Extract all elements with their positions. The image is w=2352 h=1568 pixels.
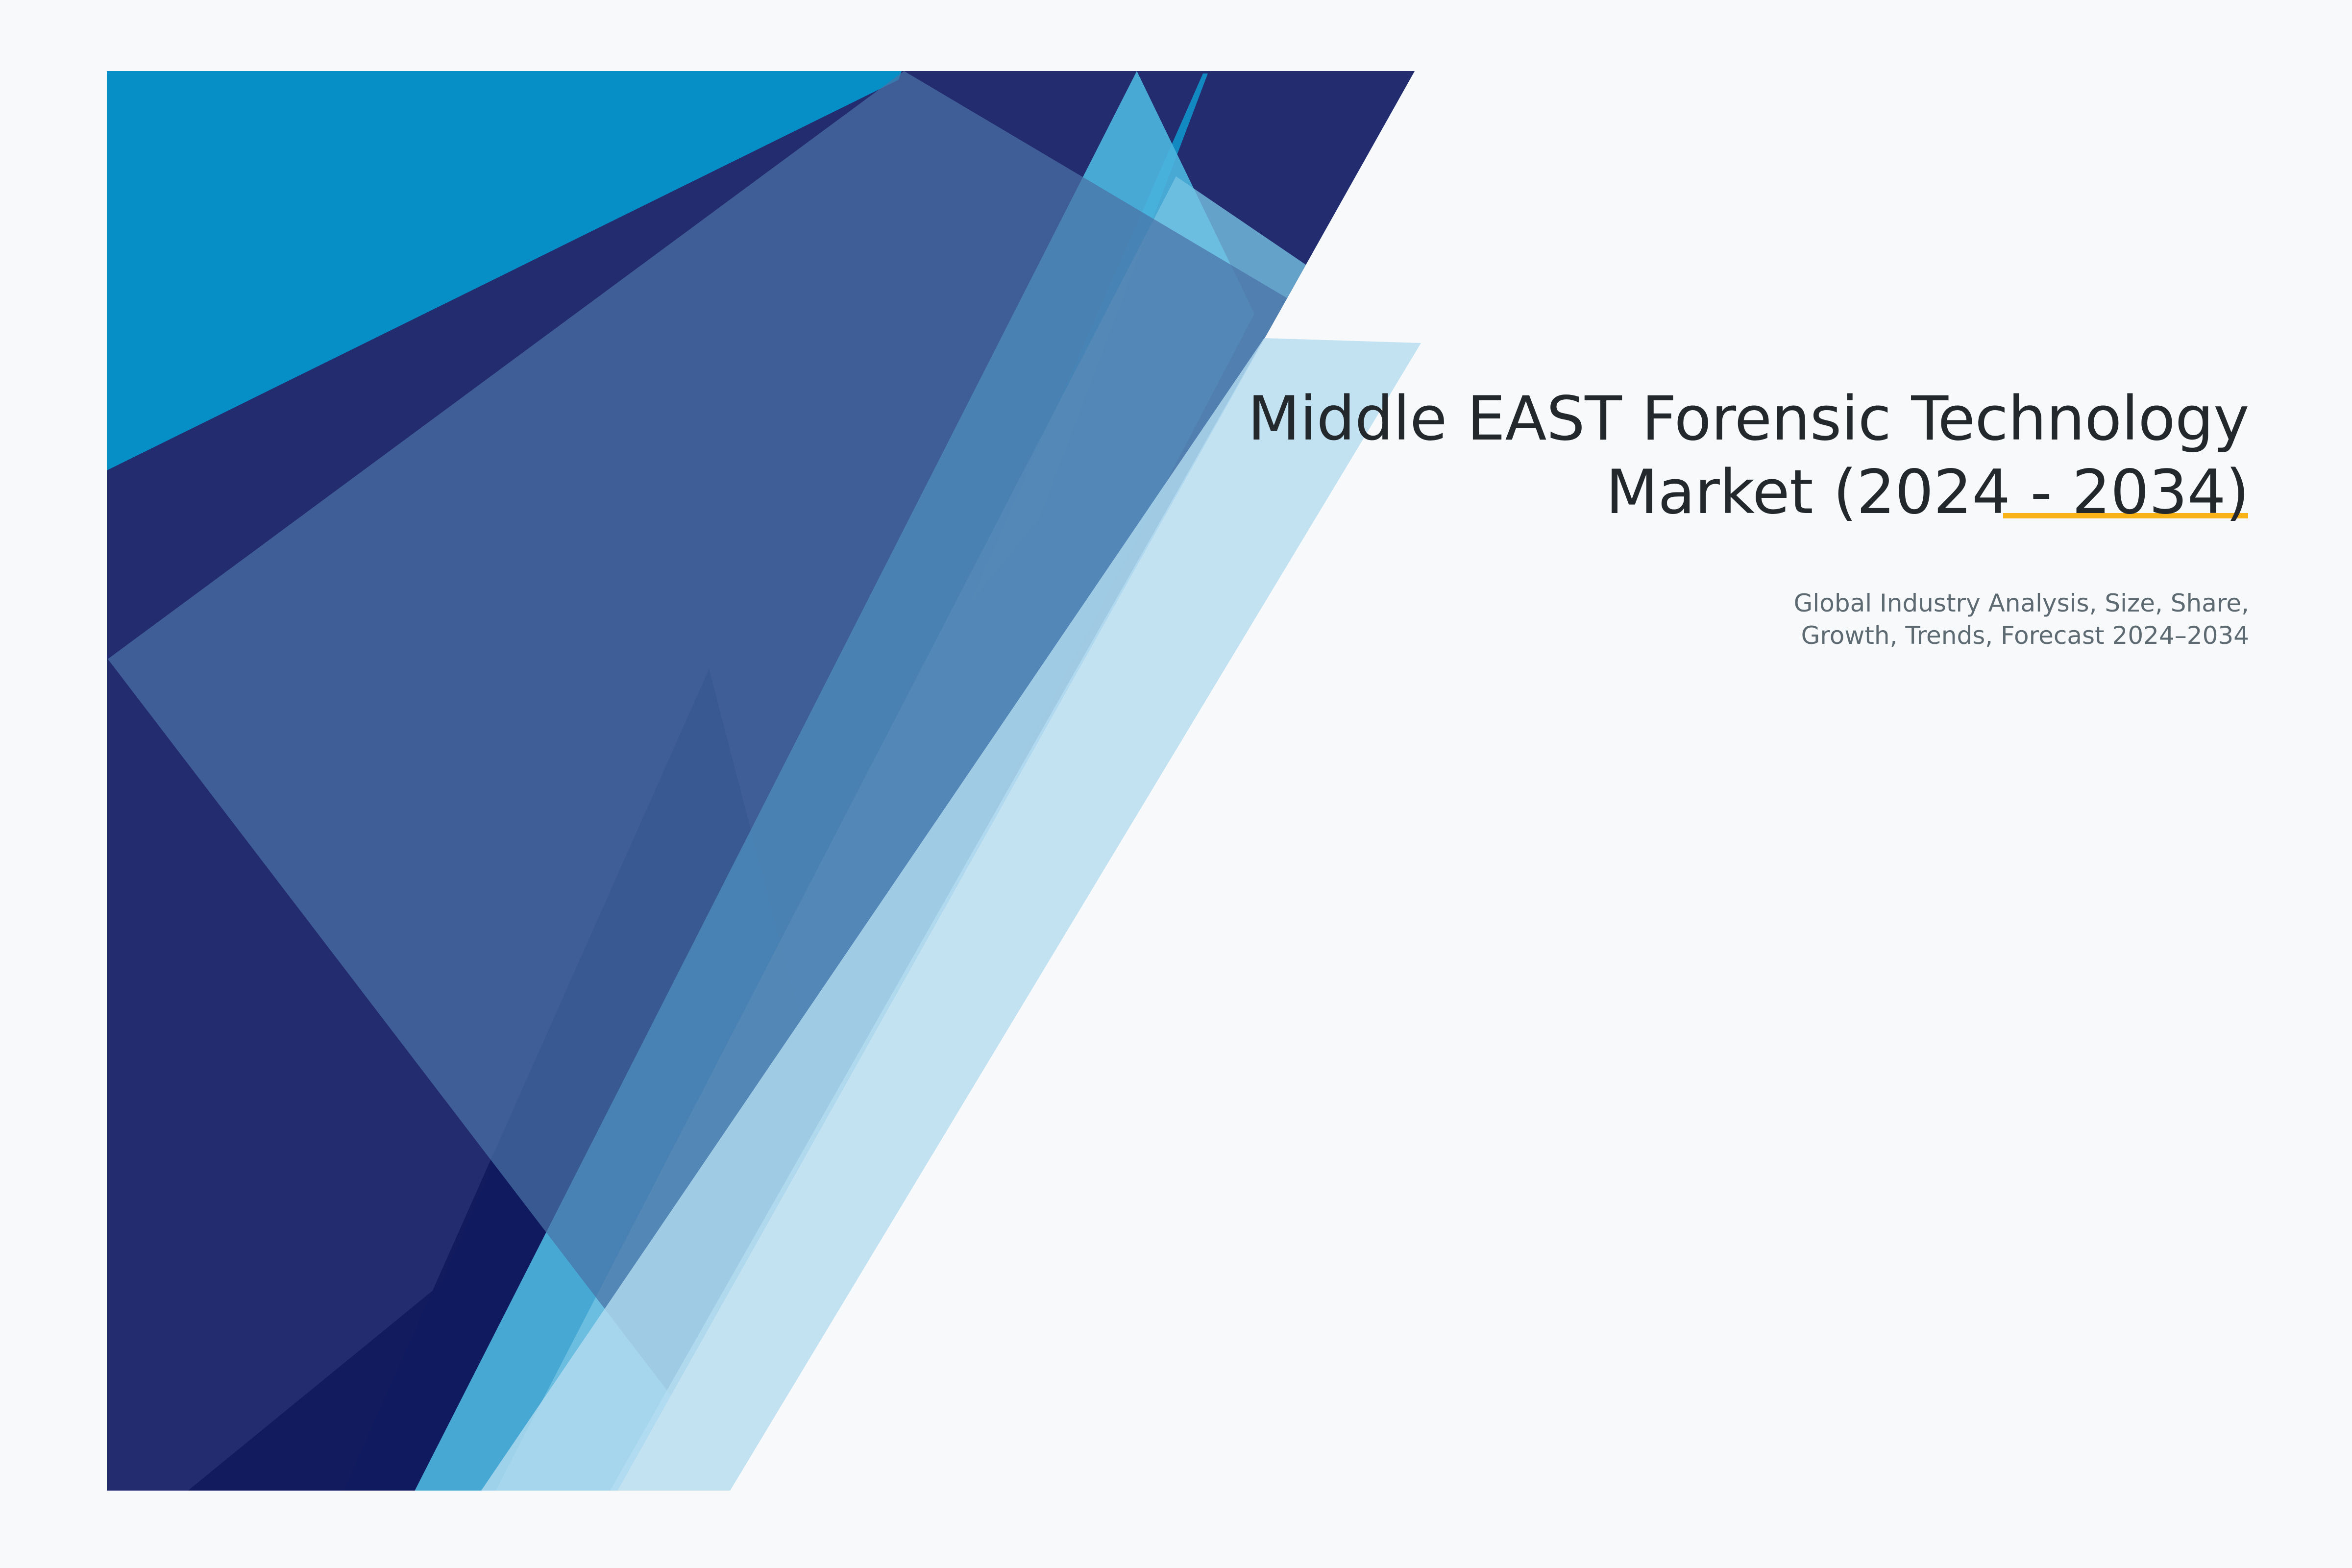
page-background (0, 0, 2352, 1568)
subtitle-line-2: Growth, Trends, Forecast 2024–2034 (1801, 621, 2249, 650)
cover-text-block: Middle EAST Forensic TechnologyMarket (2… (926, 382, 2249, 652)
subtitle-line-1: Global Industry Analysis, Size, Share, (1794, 589, 2249, 617)
page-title: Middle EAST Forensic TechnologyMarket (2… (926, 382, 2249, 529)
title-wrapper: Middle EAST Forensic TechnologyMarket (2… (926, 382, 2249, 529)
cover-page: Middle EAST Forensic TechnologyMarket (2… (0, 0, 2352, 1568)
title-line-2: Market (2024 - 2034) (1606, 457, 2249, 528)
page-subtitle: Global Industry Analysis, Size, Share,Gr… (926, 587, 2249, 652)
title-line-1: Middle EAST Forensic Technology (1248, 384, 2249, 454)
